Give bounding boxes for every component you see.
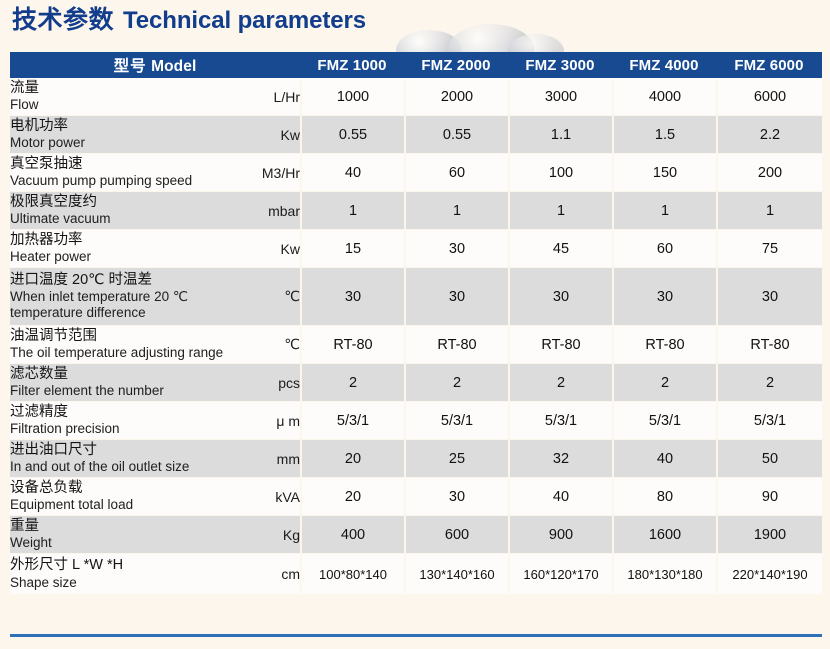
cell-value: 80 (612, 478, 716, 516)
column-header-fmz-6000: FMZ 6000 (716, 52, 822, 78)
row-label: 重量Weight (10, 516, 200, 554)
column-header-fmz-4000: FMZ 4000 (612, 52, 716, 78)
cell-value: 1600 (612, 516, 716, 554)
row-unit: kVA (200, 478, 300, 516)
row-label-chinese: 滤芯数量 (10, 366, 200, 383)
column-header-fmz-2000: FMZ 2000 (404, 52, 508, 78)
row-label: 电机功率Motor power (10, 116, 200, 154)
cell-value: 2 (612, 364, 716, 402)
row-label-chinese: 加热器功率 (10, 232, 200, 249)
table-header-row: 型号 Model FMZ 1000 FMZ 2000 FMZ 3000 FMZ … (10, 52, 822, 78)
row-label-chinese: 重量 (10, 518, 200, 535)
row-label-english: When inlet temperature 20 ℃ (10, 289, 200, 305)
row-unit: M3/Hr (200, 154, 300, 192)
table-row: 极限真空度约Ultimate vacuummbar11111 (10, 192, 822, 230)
row-unit: ℃ (200, 268, 300, 326)
row-label-chinese: 流量 (10, 80, 200, 97)
cell-value: 180*130*180 (612, 554, 716, 594)
table-row: 加热器功率Heater powerKw1530456075 (10, 230, 822, 268)
cell-value: 6000 (716, 78, 822, 116)
row-label-english: Vacuum pump pumping speed (10, 173, 200, 189)
cell-value: RT-80 (508, 326, 612, 364)
cell-value: 5/3/1 (508, 402, 612, 440)
column-header-fmz-3000: FMZ 3000 (508, 52, 612, 78)
row-label-english: Flow (10, 97, 200, 113)
cell-value: 600 (404, 516, 508, 554)
cell-value: 1 (716, 192, 822, 230)
row-label-english: Heater power (10, 249, 200, 265)
cell-value: 60 (404, 154, 508, 192)
row-label-chinese: 进口温度 20℃ 时温差 (10, 272, 200, 289)
cell-value: 1000 (300, 78, 404, 116)
cell-value: 200 (716, 154, 822, 192)
row-unit: L/Hr (200, 78, 300, 116)
cell-value: 40 (300, 154, 404, 192)
cell-value: RT-80 (612, 326, 716, 364)
cell-value: 30 (612, 268, 716, 326)
cell-value: 30 (716, 268, 822, 326)
row-label: 进出油口尺寸In and out of the oil outlet size (10, 440, 200, 478)
table-row: 电机功率Motor powerKw0.550.551.11.52.2 (10, 116, 822, 154)
cell-value: 4000 (612, 78, 716, 116)
cell-value: 2000 (404, 78, 508, 116)
row-label-english: In and out of the oil outlet size (10, 459, 200, 475)
row-label: 流量Flow (10, 78, 200, 116)
row-label-english: Weight (10, 535, 200, 551)
row-label: 油温调节范围The oil temperature adjusting rang… (10, 326, 200, 364)
cell-value: 60 (612, 230, 716, 268)
bottom-rule-divider (10, 634, 822, 637)
cell-value: 2.2 (716, 116, 822, 154)
row-label-chinese: 极限真空度约 (10, 194, 200, 211)
table-row: 流量FlowL/Hr10002000300040006000 (10, 78, 822, 116)
row-label-english: Filter element the number (10, 383, 200, 399)
row-label-chinese: 外形尺寸 L *W *H (10, 557, 200, 574)
background-watermark-image (390, 0, 830, 52)
row-label-english: Filtration precision (10, 421, 200, 437)
table-row: 进口温度 20℃ 时温差When inlet temperature 20 ℃t… (10, 268, 822, 326)
model-header-english: Model (151, 58, 196, 75)
table-row: 过滤精度Filtration precisionμ m5/3/15/3/15/3… (10, 402, 822, 440)
row-label-chinese: 进出油口尺寸 (10, 442, 200, 459)
cell-value: 0.55 (300, 116, 404, 154)
cell-value: 1.1 (508, 116, 612, 154)
cell-value: 220*140*190 (716, 554, 822, 594)
table-header: 型号 Model FMZ 1000 FMZ 2000 FMZ 3000 FMZ … (10, 52, 822, 78)
row-label-english: Motor power (10, 135, 200, 151)
cell-value: 2 (716, 364, 822, 402)
cell-value: 30 (404, 268, 508, 326)
cell-value: 30 (300, 268, 404, 326)
table-row: 设备总负载Equipment total loadkVA2030408090 (10, 478, 822, 516)
table-row: 进出油口尺寸In and out of the oil outlet sizem… (10, 440, 822, 478)
cell-value: 900 (508, 516, 612, 554)
cell-value: 160*120*170 (508, 554, 612, 594)
column-header-fmz-1000: FMZ 1000 (300, 52, 404, 78)
cell-value: 20 (300, 478, 404, 516)
cell-value: 1.5 (612, 116, 716, 154)
row-unit: Kw (200, 230, 300, 268)
row-unit: μ m (200, 402, 300, 440)
watermark-bubble (396, 30, 462, 52)
cell-value: 5/3/1 (300, 402, 404, 440)
row-label: 外形尺寸 L *W *HShape size (10, 554, 200, 594)
cell-value: 2 (508, 364, 612, 402)
cell-value: 32 (508, 440, 612, 478)
row-label: 过滤精度Filtration precision (10, 402, 200, 440)
cell-value: 1 (508, 192, 612, 230)
cell-value: 1 (404, 192, 508, 230)
cell-value: RT-80 (716, 326, 822, 364)
cell-value: RT-80 (300, 326, 404, 364)
table-row: 油温调节范围The oil temperature adjusting rang… (10, 326, 822, 364)
row-label: 加热器功率Heater power (10, 230, 200, 268)
row-label-chinese: 油温调节范围 (10, 328, 200, 345)
row-unit: Kw (200, 116, 300, 154)
cell-value: 2 (300, 364, 404, 402)
cell-value: 100 (508, 154, 612, 192)
page-title: 技术参数 Technical parameters (12, 8, 366, 48)
cell-value: 40 (612, 440, 716, 478)
cell-value: 75 (716, 230, 822, 268)
table-row: 外形尺寸 L *W *HShape sizecm100*80*140130*14… (10, 554, 822, 594)
cell-value: 45 (508, 230, 612, 268)
cell-value: 1900 (716, 516, 822, 554)
watermark-bubble (508, 34, 564, 52)
cell-value: 0.55 (404, 116, 508, 154)
row-label-english: The oil temperature adjusting range (10, 345, 200, 361)
cell-value: 150 (612, 154, 716, 192)
cell-value: 20 (300, 440, 404, 478)
row-label: 滤芯数量Filter element the number (10, 364, 200, 402)
cell-value: 1 (612, 192, 716, 230)
row-label-english: Equipment total load (10, 497, 200, 513)
cell-value: 1 (300, 192, 404, 230)
cell-value: 40 (508, 478, 612, 516)
table-body: 流量FlowL/Hr10002000300040006000电机功率Motor … (10, 78, 822, 594)
row-label: 极限真空度约Ultimate vacuum (10, 192, 200, 230)
cell-value: 90 (716, 478, 822, 516)
cell-value: RT-80 (404, 326, 508, 364)
cell-value: 5/3/1 (404, 402, 508, 440)
cell-value: 100*80*140 (300, 554, 404, 594)
page-title-english: Technical parameters (123, 9, 366, 33)
watermark-haze (390, 0, 830, 52)
table-row: 真空泵抽速Vacuum pump pumping speedM3/Hr40601… (10, 154, 822, 192)
watermark-bubble (448, 24, 534, 52)
row-label-english-line2: temperature difference (10, 305, 200, 321)
row-label-chinese: 设备总负载 (10, 480, 200, 497)
row-unit: mm (200, 440, 300, 478)
row-label-chinese: 过滤精度 (10, 404, 200, 421)
row-label: 进口温度 20℃ 时温差When inlet temperature 20 ℃t… (10, 268, 200, 326)
row-label-chinese: 电机功率 (10, 118, 200, 135)
cell-value: 2 (404, 364, 508, 402)
cell-value: 400 (300, 516, 404, 554)
cell-value: 5/3/1 (716, 402, 822, 440)
page-title-chinese: 技术参数 (12, 8, 114, 33)
row-unit: mbar (200, 192, 300, 230)
technical-parameters-table: 型号 Model FMZ 1000 FMZ 2000 FMZ 3000 FMZ … (10, 52, 822, 594)
row-label: 真空泵抽速Vacuum pump pumping speed (10, 154, 200, 192)
cell-value: 5/3/1 (612, 402, 716, 440)
cell-value: 3000 (508, 78, 612, 116)
cell-value: 30 (508, 268, 612, 326)
row-label-english: Shape size (10, 575, 200, 591)
row-label-chinese: 真空泵抽速 (10, 156, 200, 173)
row-unit: pcs (200, 364, 300, 402)
row-unit: Kg (200, 516, 300, 554)
cell-value: 130*140*160 (404, 554, 508, 594)
cell-value: 15 (300, 230, 404, 268)
cell-value: 30 (404, 478, 508, 516)
table-row: 重量WeightKg40060090016001900 (10, 516, 822, 554)
row-unit: cm (200, 554, 300, 594)
column-header-model: 型号 Model (10, 52, 300, 78)
table-row: 滤芯数量Filter element the numberpcs22222 (10, 364, 822, 402)
row-label: 设备总负载Equipment total load (10, 478, 200, 516)
cell-value: 30 (404, 230, 508, 268)
model-header-chinese: 型号 (114, 58, 147, 75)
cell-value: 50 (716, 440, 822, 478)
cell-value: 25 (404, 440, 508, 478)
row-label-english: Ultimate vacuum (10, 211, 200, 227)
